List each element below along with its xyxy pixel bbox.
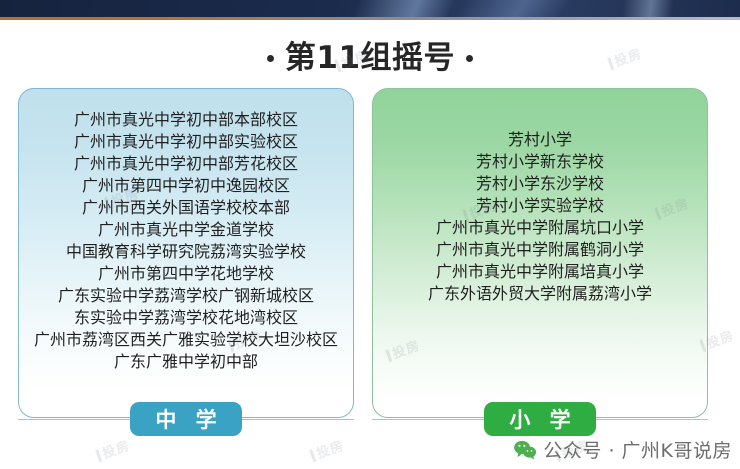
- banner-light-streak: [515, 0, 740, 17]
- list-item: 广东广雅中学初中部: [25, 351, 347, 373]
- list-item: 东实验中学荔湾学校花地湾校区: [25, 307, 347, 329]
- badge-rule-left: [372, 419, 488, 420]
- watermark-logo: 投房: [94, 435, 132, 464]
- badge-rule-right: [238, 419, 354, 420]
- status-badge-primary-school: 小 学: [484, 402, 596, 436]
- banner-accent-rule: [0, 17, 740, 20]
- list-item: 广州市荔湾区西关广雅实验学校大坦沙校区: [25, 329, 347, 351]
- list-item: 芳村小学: [379, 129, 701, 151]
- title-bullet-left-icon: [267, 55, 274, 62]
- header-banner: [0, 0, 740, 17]
- list-item: 广州市真光中学初中部本部校区: [25, 109, 347, 131]
- title-text: 第11组摇号: [285, 43, 455, 74]
- badge-rule-right: [592, 419, 708, 420]
- middle-school-badge-row: 中 学: [18, 402, 354, 436]
- middle-school-list: 广州市真光中学初中部本部校区 广州市真光中学初中部实验校区 广州市真光中学初中部…: [19, 109, 353, 373]
- page-title: 第11组摇号: [0, 36, 740, 80]
- primary-school-card: 芳村小学 芳村小学新东学校 芳村小学东沙学校 芳村小学实验学校 广州市真光中学附…: [372, 88, 708, 418]
- title-bullet-right-icon: [466, 55, 473, 62]
- list-item: 中国教育科学研究院荔湾实验学校: [25, 241, 347, 263]
- badge-rule-left: [18, 419, 134, 420]
- list-item: 广东实验中学荔湾学校广钢新城校区: [25, 285, 347, 307]
- primary-school-badge-row: 小 学: [372, 402, 708, 436]
- list-item: 广州市真光中学附属坑口小学: [379, 217, 701, 239]
- account-credit: 公众号 · 广州K哥说房: [513, 436, 732, 463]
- list-item: 广州市第四中学初中逸园校区: [25, 175, 347, 197]
- wechat-icon: [513, 440, 537, 460]
- list-item: 芳村小学实验学校: [379, 195, 701, 217]
- list-item: 广州市第四中学花地学校: [25, 263, 347, 285]
- status-badge-middle-school: 中 学: [130, 402, 242, 436]
- list-item: 广州市西关外国语学校校本部: [25, 197, 347, 219]
- list-item: 广州市真光中学金道学校: [25, 219, 347, 241]
- list-item: 广州市真光中学附属培真小学: [379, 261, 701, 283]
- list-item: 芳村小学新东学校: [379, 151, 701, 173]
- watermark-logo: 投房: [308, 435, 346, 464]
- slide-canvas: 第11组摇号 广州市真光中学初中部本部校区 广州市真光中学初中部实验校区 广州市…: [0, 0, 740, 469]
- list-item: 芳村小学东沙学校: [379, 173, 701, 195]
- list-item: 广州市真光中学初中部芳花校区: [25, 153, 347, 175]
- primary-school-list: 芳村小学 芳村小学新东学校 芳村小学东沙学校 芳村小学实验学校 广州市真光中学附…: [373, 129, 707, 305]
- middle-school-card: 广州市真光中学初中部本部校区 广州市真光中学初中部实验校区 广州市真光中学初中部…: [18, 88, 354, 418]
- list-item: 广州市真光中学初中部实验校区: [25, 131, 347, 153]
- list-item: 广东外语外贸大学附属荔湾小学: [379, 283, 701, 305]
- account-credit-text: 公众号 · 广州K哥说房: [543, 436, 732, 463]
- list-item: 广州市真光中学附属鹤洞小学: [379, 239, 701, 261]
